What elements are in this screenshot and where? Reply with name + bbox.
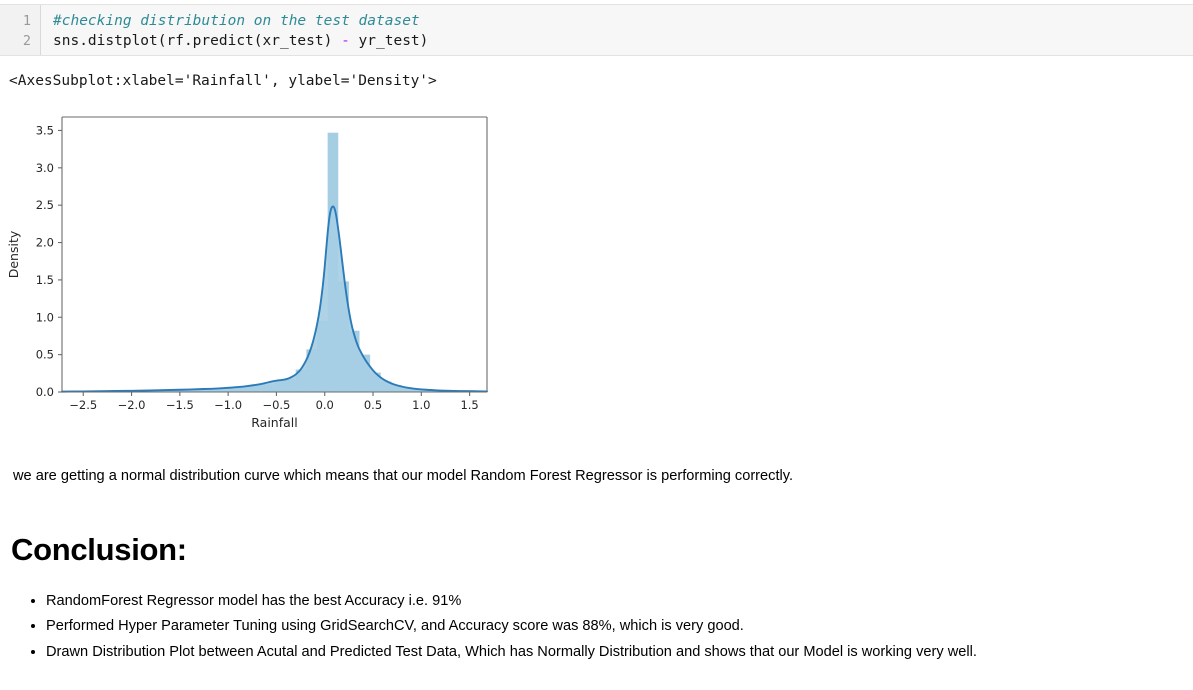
y-tick-label: 2.0 xyxy=(36,236,54,250)
code-editor-area[interactable]: #checking distribution on the test datas… xyxy=(41,5,1193,55)
y-tick-label: 3.5 xyxy=(36,123,54,137)
x-tick-label: 0.0 xyxy=(316,398,334,412)
x-tick-label: −1.0 xyxy=(214,398,242,412)
line-number: 1 xyxy=(0,11,31,31)
x-axis-label: Rainfall xyxy=(251,415,297,430)
list-item: Drawn Distribution Plot between Acutal a… xyxy=(46,640,1193,665)
x-tick-label: 1.0 xyxy=(412,398,430,412)
code-operator: - xyxy=(341,33,350,49)
y-tick-label: 2.5 xyxy=(36,198,54,212)
y-axis: 0.00.51.01.52.02.53.03.5Density xyxy=(6,123,62,399)
y-tick-label: 0.0 xyxy=(36,385,54,399)
x-tick-label: −1.5 xyxy=(166,398,194,412)
notebook-code-cell[interactable]: 1 2 #checking distribution on the test d… xyxy=(0,4,1193,56)
y-tick-label: 1.5 xyxy=(36,273,54,287)
code-call-prefix: sns.distplot(rf.predict(xr_test) xyxy=(53,33,341,49)
y-tick-label: 0.5 xyxy=(36,348,54,362)
list-item: Performed Hyper Parameter Tuning using G… xyxy=(46,614,1193,639)
y-tick-label: 1.0 xyxy=(36,310,54,324)
conclusion-bullet-list: RandomForest Regressor model has the bes… xyxy=(12,589,1193,665)
distribution-plot-figure: −2.5−2.0−1.5−1.0−0.50.00.51.01.5Rainfall… xyxy=(0,105,520,435)
cell-text-output: <AxesSubplot:xlabel='Rainfall', ylabel='… xyxy=(9,71,437,91)
y-tick-label: 3.0 xyxy=(36,161,54,175)
code-comment-line: #checking distribution on the test datas… xyxy=(53,13,420,29)
x-tick-label: −2.5 xyxy=(69,398,97,412)
kde-fill-area xyxy=(62,206,487,392)
list-item: RandomForest Regressor model has the bes… xyxy=(46,589,1193,614)
summary-paragraph: we are getting a normal distribution cur… xyxy=(13,466,793,487)
x-tick-label: −2.0 xyxy=(118,398,146,412)
x-tick-label: −0.5 xyxy=(262,398,290,412)
kde-curve xyxy=(62,206,487,391)
x-tick-label: 0.5 xyxy=(364,398,382,412)
y-axis-label: Density xyxy=(6,230,21,278)
conclusion-heading: Conclusion: xyxy=(11,532,187,568)
histogram-bars xyxy=(62,133,487,392)
code-line-number-gutter: 1 2 xyxy=(0,5,41,55)
x-axis: −2.5−2.0−1.5−1.0−0.50.00.51.01.5Rainfall xyxy=(69,392,478,430)
line-number: 2 xyxy=(0,31,31,51)
axes-spines xyxy=(62,117,487,392)
code-call-suffix: yr_test) xyxy=(350,33,429,49)
density-histogram-chart: −2.5−2.0−1.5−1.0−0.50.00.51.01.5Rainfall… xyxy=(0,105,520,435)
x-tick-label: 1.5 xyxy=(460,398,478,412)
